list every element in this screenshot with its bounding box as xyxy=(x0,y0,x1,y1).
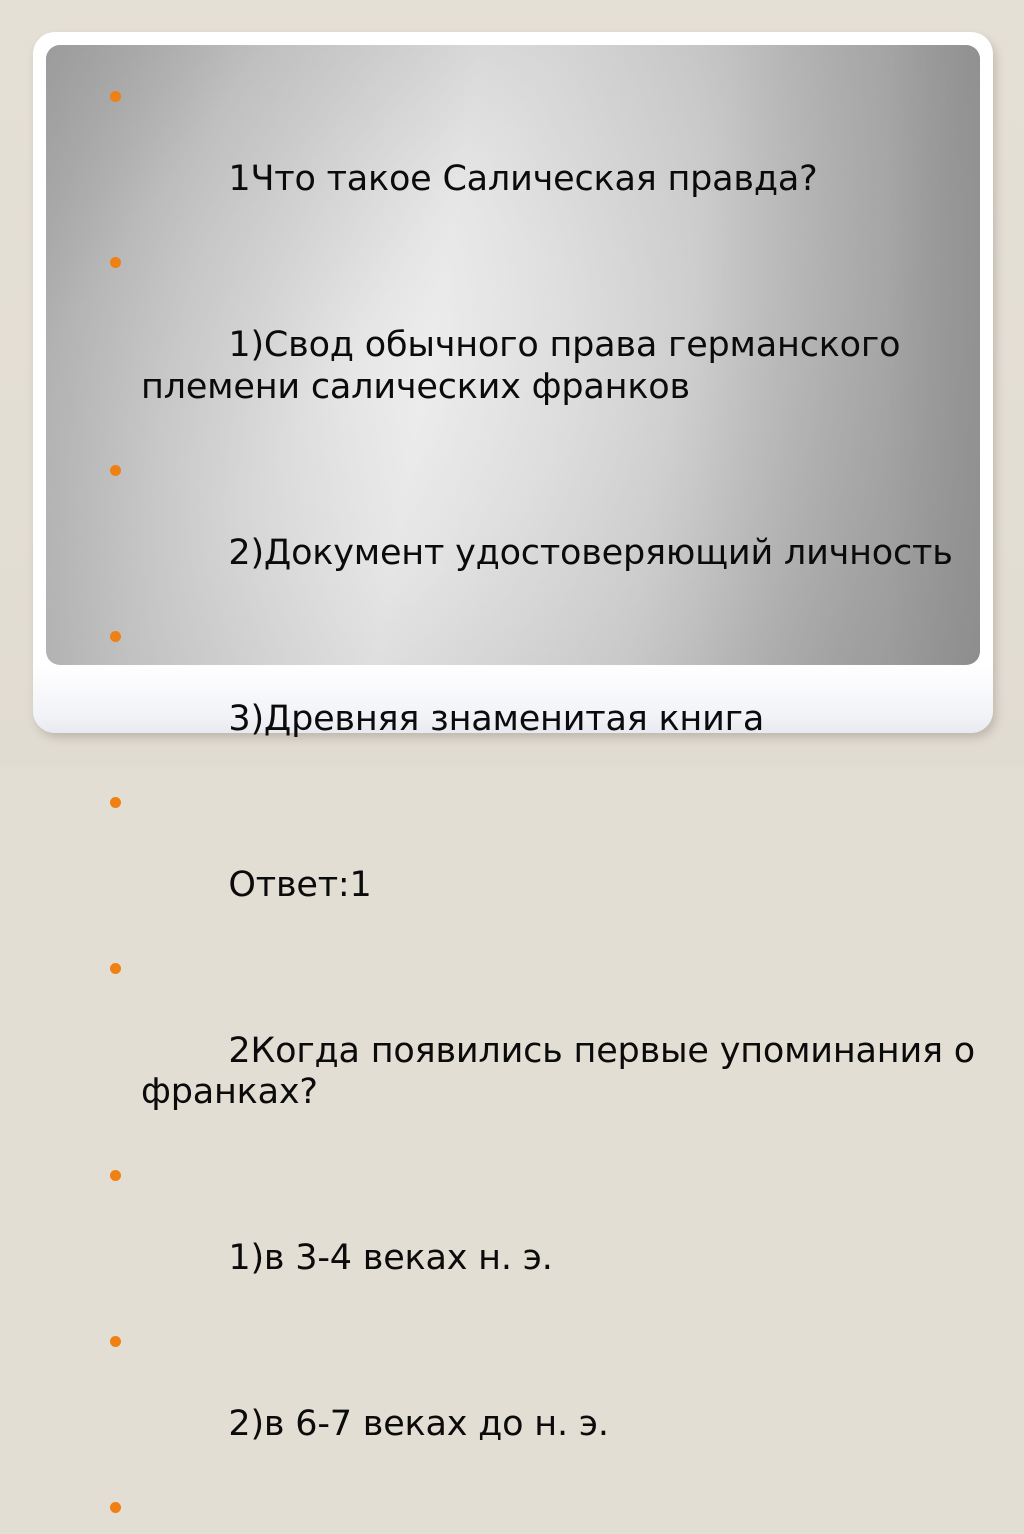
list-item: 2Когда появились первые упоминания о фра… xyxy=(79,948,1009,1156)
list-item-text: 1)Свод обычного права германского племен… xyxy=(141,325,911,407)
bullet-dot-icon xyxy=(110,963,121,974)
list-item: 1)в 3-4 веках н. э. xyxy=(79,1155,1009,1321)
slide-canvas: 1Что такое Салическая правда? 1)Свод обы… xyxy=(0,0,1024,767)
list-item: 3)в 1-2 веках н. э. xyxy=(79,1487,1009,1534)
list-item-text: 3)Древняя знаменитая книга xyxy=(228,699,764,739)
list-item-text: 2)в 6-7 веках до н. э. xyxy=(228,1404,608,1444)
list-item: Ответ:1 xyxy=(79,782,1009,948)
bullet-dot-icon xyxy=(110,1336,121,1347)
bullet-dot-icon xyxy=(110,91,121,102)
list-item: 1Что такое Салическая правда? xyxy=(79,76,1009,242)
list-item: 3)Древняя знаменитая книга xyxy=(79,616,1009,782)
list-item-text: Ответ:1 xyxy=(228,865,371,905)
slide-content-frame: 1Что такое Салическая правда? 1)Свод обы… xyxy=(33,32,993,733)
list-item: 2)Документ удостоверяющий личность xyxy=(79,450,1009,616)
list-item-text: 1)в 3-4 веках н. э. xyxy=(228,1238,552,1278)
bullet-dot-icon xyxy=(110,631,121,642)
bullet-dot-icon xyxy=(110,797,121,808)
bullet-dot-icon xyxy=(110,465,121,476)
quiz-bullet-list: 1Что такое Салическая правда? 1)Свод обы… xyxy=(79,76,1009,1534)
list-item-text: 2Когда появились первые упоминания о фра… xyxy=(141,1031,986,1113)
bullet-dot-icon xyxy=(110,1502,121,1513)
list-item-text: 1Что такое Салическая правда? xyxy=(228,159,817,199)
list-item: 1)Свод обычного права германского племен… xyxy=(79,242,1009,450)
bullet-dot-icon xyxy=(110,1170,121,1181)
list-item: 2)в 6-7 веках до н. э. xyxy=(79,1321,1009,1487)
list-item-text: 2)Документ удостоверяющий личность xyxy=(228,533,952,573)
bullet-dot-icon xyxy=(110,257,121,268)
